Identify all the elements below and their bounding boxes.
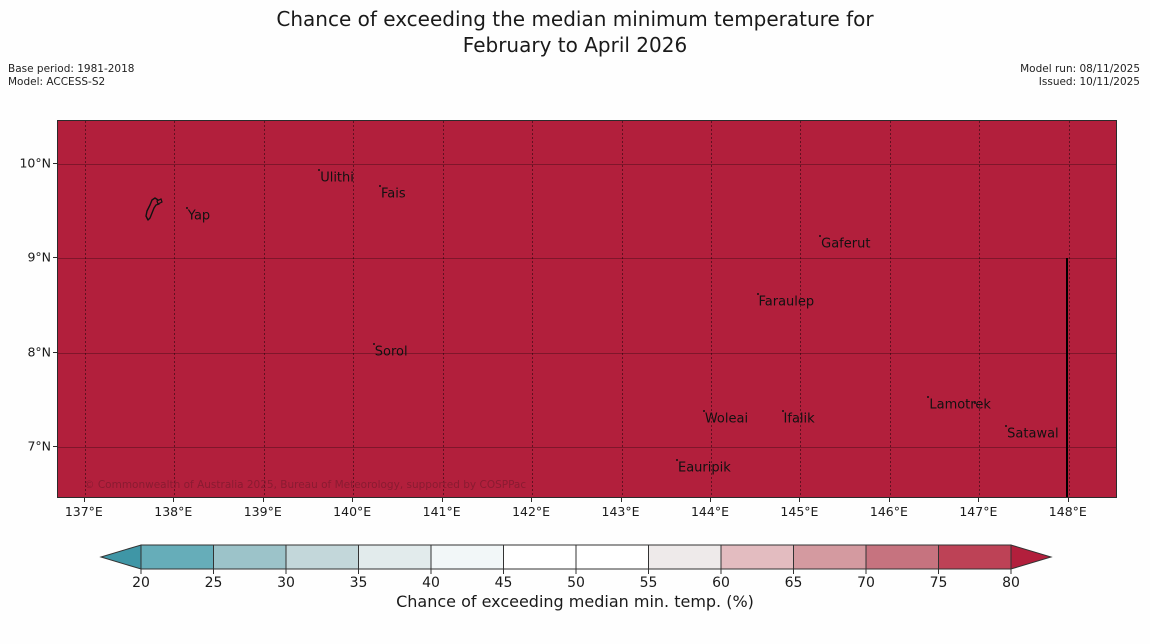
model-text: Model: ACCESS-S2 bbox=[8, 76, 134, 89]
colorbar-extend-high bbox=[1011, 545, 1051, 569]
y-tick-mark bbox=[53, 163, 57, 164]
map-plot-area: YapUlithiFaisSorolGaferutFaraulepWoleaiI… bbox=[57, 120, 1117, 498]
x-tick-mark bbox=[889, 498, 890, 502]
gridline-vertical bbox=[890, 121, 891, 497]
model-run-text: Model run: 08/11/2025 bbox=[1020, 63, 1140, 76]
x-tick-mark bbox=[442, 498, 443, 502]
place-label: Ifalik bbox=[784, 412, 815, 427]
gridline-horizontal bbox=[58, 353, 1116, 354]
metadata-left: Base period: 1981-2018 Model: ACCESS-S2 bbox=[8, 63, 134, 89]
gridline-vertical bbox=[532, 121, 533, 497]
colorbar-tick-label: 50 bbox=[567, 575, 585, 591]
y-tick-label: 9°N bbox=[27, 250, 51, 265]
colorbar-band bbox=[649, 545, 722, 569]
x-tick-label: 144°E bbox=[691, 504, 729, 519]
title-line-2: February to April 2026 bbox=[0, 32, 1150, 58]
colorbar-tick-label: 80 bbox=[1002, 575, 1020, 591]
place-label: Fais bbox=[381, 187, 406, 202]
x-tick-mark bbox=[352, 498, 353, 502]
x-tick-label: 137°E bbox=[65, 504, 103, 519]
title-line-1: Chance of exceeding the median minimum t… bbox=[0, 6, 1150, 32]
x-tick-mark bbox=[710, 498, 711, 502]
x-tick-label: 139°E bbox=[244, 504, 282, 519]
colorbar-band bbox=[214, 545, 287, 569]
colorbar-tick-label: 40 bbox=[422, 575, 440, 591]
y-tick-mark bbox=[53, 352, 57, 353]
place-label: Yap bbox=[188, 208, 210, 223]
metadata-right: Model run: 08/11/2025 Issued: 10/11/2025 bbox=[1020, 63, 1140, 89]
colorbar-tick-label: 25 bbox=[205, 575, 223, 591]
colorbar-tick-label: 30 bbox=[277, 575, 295, 591]
y-tick-mark bbox=[53, 257, 57, 258]
colorbar-band bbox=[794, 545, 867, 569]
colorbar-axis-label: Chance of exceeding median min. temp. (%… bbox=[0, 592, 1150, 611]
x-tick-label: 138°E bbox=[154, 504, 192, 519]
x-tick-label: 142°E bbox=[512, 504, 550, 519]
copyright-notice: © Commonwealth of Australia 2025, Bureau… bbox=[84, 479, 526, 491]
gridline-vertical bbox=[979, 121, 980, 497]
y-tick-mark bbox=[53, 446, 57, 447]
yap-island-shape bbox=[143, 196, 165, 222]
place-label: Sorol bbox=[375, 345, 408, 360]
place-marker-dot bbox=[974, 402, 976, 404]
issued-text: Issued: 10/11/2025 bbox=[1020, 76, 1140, 89]
colorbar-band bbox=[504, 545, 577, 569]
x-tick-label: 146°E bbox=[870, 504, 908, 519]
x-tick-label: 140°E bbox=[333, 504, 371, 519]
x-tick-label: 148°E bbox=[1049, 504, 1087, 519]
page-title: Chance of exceeding the median minimum t… bbox=[0, 6, 1150, 58]
y-tick-label: 10°N bbox=[19, 155, 51, 170]
x-tick-label: 145°E bbox=[780, 504, 818, 519]
x-tick-label: 143°E bbox=[602, 504, 640, 519]
gridline-vertical bbox=[85, 121, 86, 497]
x-tick-label: 141°E bbox=[423, 504, 461, 519]
y-tick-label: 8°N bbox=[27, 344, 51, 359]
colorbar-band bbox=[576, 545, 649, 569]
colorbar-band bbox=[866, 545, 939, 569]
colorbar-tick-label: 45 bbox=[495, 575, 513, 591]
x-tick-mark bbox=[1068, 498, 1069, 502]
place-label: Satawal bbox=[1007, 427, 1059, 442]
gridline-vertical bbox=[1069, 121, 1070, 497]
gridline-vertical bbox=[443, 121, 444, 497]
x-tick-mark bbox=[978, 498, 979, 502]
x-tick-mark bbox=[799, 498, 800, 502]
gridline-vertical bbox=[174, 121, 175, 497]
colorbar-tick-label: 75 bbox=[930, 575, 948, 591]
x-tick-mark bbox=[621, 498, 622, 502]
gridline-vertical bbox=[711, 121, 712, 497]
colorbar-extend-low bbox=[101, 545, 141, 569]
colorbar-band bbox=[141, 545, 214, 569]
place-label: Gaferut bbox=[821, 237, 870, 252]
colorbar-band bbox=[721, 545, 794, 569]
base-period-text: Base period: 1981-2018 bbox=[8, 63, 134, 76]
x-tick-mark bbox=[84, 498, 85, 502]
colorbar-tick-label: 70 bbox=[857, 575, 875, 591]
colorbar-band bbox=[431, 545, 504, 569]
x-tick-mark bbox=[531, 498, 532, 502]
colorbar-tick-label: 35 bbox=[350, 575, 368, 591]
colorbar-tick-label: 55 bbox=[640, 575, 658, 591]
place-label: Eauripik bbox=[678, 461, 731, 476]
place-label: Ulithi bbox=[320, 171, 354, 186]
gridline-vertical bbox=[622, 121, 623, 497]
gridline-horizontal bbox=[58, 258, 1116, 259]
x-tick-mark bbox=[263, 498, 264, 502]
colorbar-band bbox=[286, 545, 359, 569]
place-label: Faraulep bbox=[759, 294, 815, 309]
colorbar-tick-label: 60 bbox=[712, 575, 730, 591]
x-tick-label: 147°E bbox=[959, 504, 997, 519]
x-tick-mark bbox=[173, 498, 174, 502]
gridline-vertical bbox=[264, 121, 265, 497]
colorbar-band bbox=[939, 545, 1012, 569]
meridian-marker-line bbox=[1066, 258, 1068, 498]
place-label: Lamotrek bbox=[929, 397, 991, 412]
colorbar-band bbox=[359, 545, 432, 569]
colorbar-tick-label: 20 bbox=[132, 575, 150, 591]
gridline-horizontal bbox=[58, 164, 1116, 165]
colorbar-tick-label: 65 bbox=[785, 575, 803, 591]
y-tick-label: 7°N bbox=[27, 439, 51, 454]
place-label: Woleai bbox=[705, 412, 748, 427]
gridline-horizontal bbox=[58, 447, 1116, 448]
map-container: YapUlithiFaisSorolGaferutFaraulepWoleaiI… bbox=[57, 120, 1117, 498]
